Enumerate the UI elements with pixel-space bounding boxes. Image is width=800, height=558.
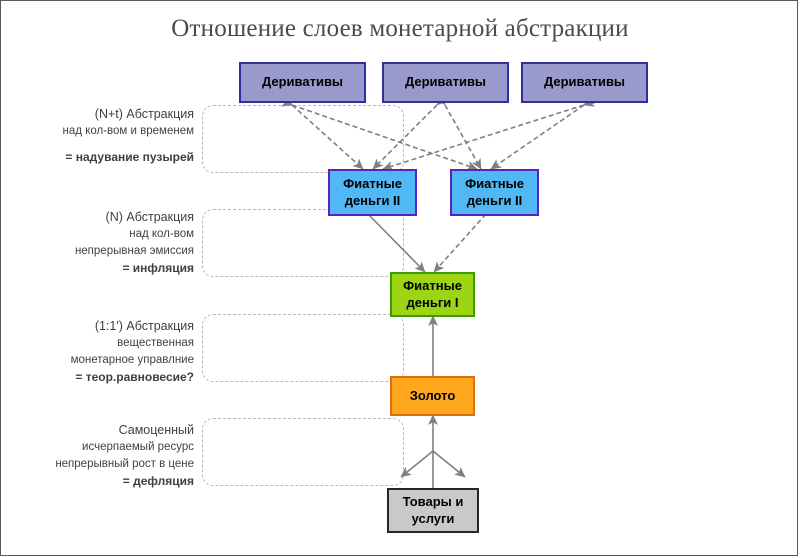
bracket-gold — [202, 418, 404, 486]
node-goods-and-services[interactable]: Товары и услуги — [387, 488, 479, 533]
node-label-line1: Фиатные — [403, 278, 462, 294]
page-title: Отношение слоев монетарной абстракции — [1, 15, 799, 43]
label-detail: исчерпаемый ресурс — [9, 439, 194, 456]
bracket-fiat-one — [202, 314, 404, 382]
node-label: Деривативы — [544, 74, 625, 90]
link-goods-prong-right — [433, 451, 465, 477]
label-accent: = теор.равновесие? — [9, 368, 194, 386]
node-label: Золото — [410, 388, 456, 404]
node-fiat-money-2-left[interactable]: Фиатные деньги II — [328, 169, 417, 216]
node-gold[interactable]: Золото — [390, 376, 475, 416]
label-detail: непрерывный рост в цене — [9, 456, 194, 473]
label-group-gold: Самоценный исчерпаемый ресурс непрерывны… — [9, 421, 194, 491]
label-lead: Самоценный — [9, 421, 194, 439]
node-label-line2: деньги II — [465, 193, 524, 209]
label-accent: = надувание пузырей — [9, 140, 194, 166]
label-lead: (1:1') Абстракция — [9, 317, 194, 335]
label-group-fiat-one: (1:1') Абстракция вещественная монетарно… — [9, 317, 194, 387]
node-derivatives-3[interactable]: Деривативы — [521, 62, 648, 103]
node-fiat-money-2-right[interactable]: Фиатные деньги II — [450, 169, 539, 216]
label-accent: = дефляция — [9, 472, 194, 490]
diagram-canvas: Отношение слоев монетарной абстракции — [0, 0, 798, 556]
node-derivatives-2[interactable]: Деривативы — [382, 62, 509, 103]
label-detail: вещественная — [9, 335, 194, 352]
label-detail: непрерывная эмиссия — [9, 243, 194, 260]
link-deriv3-fiat2right — [491, 105, 584, 169]
node-label-line1: Товары и — [403, 494, 464, 510]
label-detail: над кол-вом и временем — [9, 123, 194, 140]
node-fiat-money-1[interactable]: Фиатные деньги I — [390, 272, 475, 317]
node-label-line1: Фиатные — [465, 176, 524, 192]
link-deriv3-fiat2left — [383, 105, 584, 169]
label-lead: (N) Абстракция — [9, 208, 194, 226]
label-group-derivatives: (N+t) Абстракция над кол-вом и временем … — [9, 105, 194, 166]
node-label-line2: деньги I — [403, 295, 462, 311]
link-fiat1-fiat2right — [434, 214, 486, 272]
label-detail: над кол-вом — [9, 226, 194, 243]
label-detail: монетарное управлние — [9, 352, 194, 369]
link-goods-prong-left — [401, 451, 433, 477]
node-label: Деривативы — [262, 74, 343, 90]
node-label-line1: Фиатные — [343, 176, 402, 192]
node-derivatives-1[interactable]: Деривативы — [239, 62, 366, 103]
node-label: Деривативы — [405, 74, 486, 90]
bracket-fiat-two — [202, 209, 404, 277]
bracket-derivatives — [202, 105, 404, 173]
label-accent: = инфляция — [9, 259, 194, 277]
node-label-line2: услуги — [403, 511, 464, 527]
node-label-line2: деньги II — [343, 193, 402, 209]
label-lead: (N+t) Абстракция — [9, 105, 194, 123]
label-group-fiat-two: (N) Абстракция над кол-вом непрерывная э… — [9, 208, 194, 278]
link-deriv2-fiat2right — [445, 105, 481, 169]
